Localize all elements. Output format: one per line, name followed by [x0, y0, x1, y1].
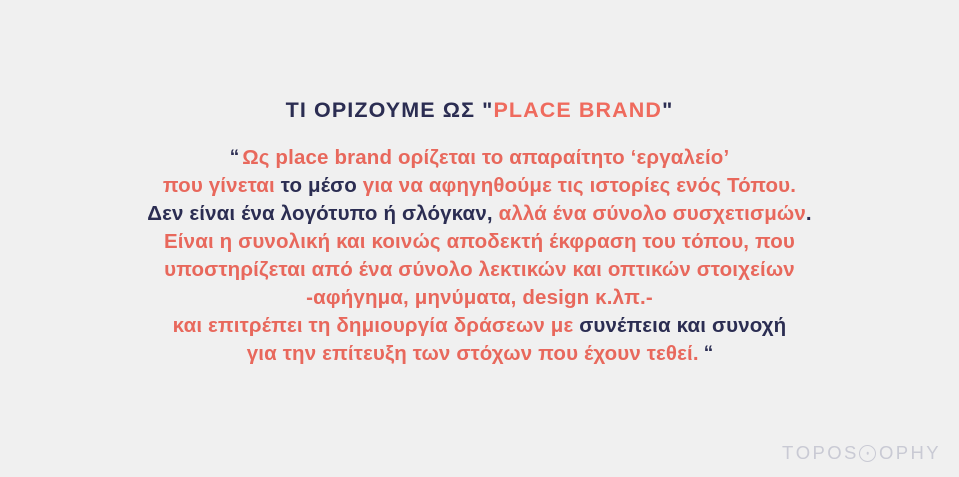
quote-line-5-text: υποστηρίζεται από ένα σύνολο λεκτικών κα…	[164, 258, 795, 281]
quote-line-3-emphasis: Δεν είναι ένα λογότυπο ή σλόγκαν,	[147, 202, 493, 225]
page-title-prefix: ΤΙ ΟΡΙΖΟΥΜΕ ΩΣ "	[286, 98, 494, 122]
page-title-accent: PLACE BRAND	[493, 98, 662, 122]
quote-open-mark: “	[230, 147, 243, 168]
quote-line-2: που γίνεται το μέσο για να αφηγηθούμε τι…	[0, 172, 959, 200]
quote-line-7-part1: και επιτρέπει τη δημιουργία δράσεων με	[173, 314, 580, 337]
page-title: ΤΙ ΟΡΙΖΟΥΜΕ ΩΣ "PLACE BRAND"	[0, 98, 959, 123]
logo-dot-o-icon	[859, 445, 876, 462]
quote-line-4-text: Είναι η συνολική και κοινώς αποδεκτή έκφ…	[164, 230, 795, 253]
quote-line-1-text: Ως place brand ορίζεται το απαραίτητο ‘ε…	[242, 146, 729, 169]
quote-line-2-part1: που γίνεται	[163, 174, 281, 197]
logo-text-part1: T	[782, 442, 796, 464]
quote-line-2-part3: για να αφηγηθούμε τις ιστορίες ενός Τόπο…	[357, 174, 796, 197]
quote-line-5: υποστηρίζεται από ένα σύνολο λεκτικών κα…	[0, 256, 959, 284]
quote-close-mark: “	[699, 343, 713, 364]
quote-line-7: και επιτρέπει τη δημιουργία δράσεων με σ…	[0, 312, 959, 340]
quote-line-1: “Ως place brand ορίζεται το απαραίτητο ‘…	[0, 144, 959, 172]
quote-line-8-text: για την επίτευξη των στόχων που έχουν τε…	[247, 342, 699, 365]
toposophy-logo: TOPOSOPHY	[782, 442, 941, 464]
page-title-suffix: "	[662, 98, 673, 122]
quote-line-3-period: .	[806, 202, 812, 225]
quote-line-3-part2: αλλά ένα σύνολο συσχετισμών	[493, 202, 806, 225]
quote-body: “Ως place brand ορίζεται το απαραίτητο ‘…	[0, 144, 959, 368]
quote-line-6: -αφήγημα, μηνύματα, design κ.λπ.-	[0, 284, 959, 312]
quote-line-7-emphasis: συνέπεια και συνοχή	[579, 314, 786, 337]
logo-text-part2: OPOS	[796, 442, 859, 464]
quote-line-3: Δεν είναι ένα λογότυπο ή σλόγκαν, αλλά έ…	[0, 200, 959, 228]
quote-line-8: για την επίτευξη των στόχων που έχουν τε…	[0, 340, 959, 368]
slide-canvas: ΤΙ ΟΡΙΖΟΥΜΕ ΩΣ "PLACE BRAND" “Ως place b…	[0, 0, 959, 477]
quote-line-4: Είναι η συνολική και κοινώς αποδεκτή έκφ…	[0, 228, 959, 256]
quote-line-2-emphasis: το μέσο	[281, 174, 357, 197]
logo-text-part3: OPHY	[879, 442, 941, 464]
quote-line-6-text: -αφήγημα, μηνύματα, design κ.λπ.-	[306, 286, 653, 309]
